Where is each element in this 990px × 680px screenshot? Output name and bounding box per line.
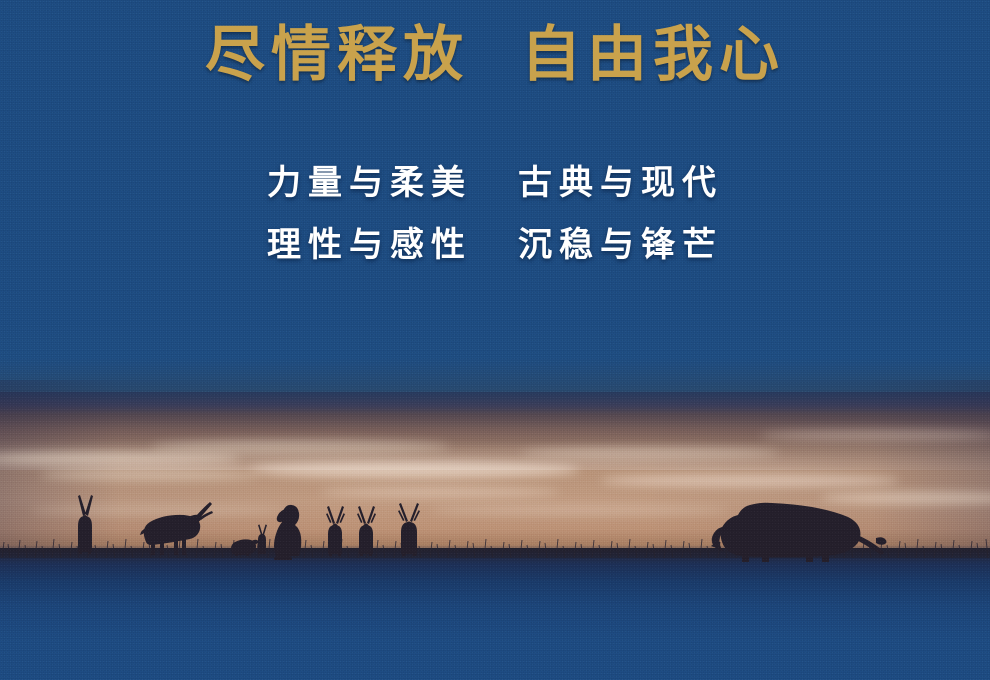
subtitle-1-right: 古典与现代	[518, 164, 723, 202]
antelope-rear-1	[326, 506, 345, 556]
warthog-small	[231, 539, 258, 556]
headline-right: 自由我心	[521, 22, 785, 88]
subtitle-line-2: 理性与感性沉稳与锋芒	[0, 214, 990, 276]
poster-canvas: 尽情释放自由我心 力量与柔美古典与现代 理性与感性沉稳与锋芒	[0, 0, 990, 680]
subtitle-1-left: 力量与柔美	[267, 164, 472, 202]
subtitle-2-left: 理性与感性	[267, 226, 472, 264]
headline: 尽情释放自由我心	[0, 18, 990, 92]
antelope-profile	[140, 502, 213, 555]
savanna-silhouettes	[0, 430, 990, 570]
fawn-small	[258, 525, 267, 555]
lion	[711, 503, 887, 562]
subtitle-block: 力量与柔美古典与现代 理性与感性沉稳与锋芒	[0, 152, 990, 276]
antelope-rear-3	[398, 503, 420, 556]
headline-left: 尽情释放	[205, 22, 469, 88]
subtitle-2-right: 沉稳与锋芒	[518, 226, 723, 264]
subtitle-line-1: 力量与柔美古典与现代	[0, 152, 990, 214]
antelope-rear-left	[78, 495, 93, 554]
antelope-rear-2	[357, 506, 376, 556]
seated-human-figure	[274, 505, 301, 560]
